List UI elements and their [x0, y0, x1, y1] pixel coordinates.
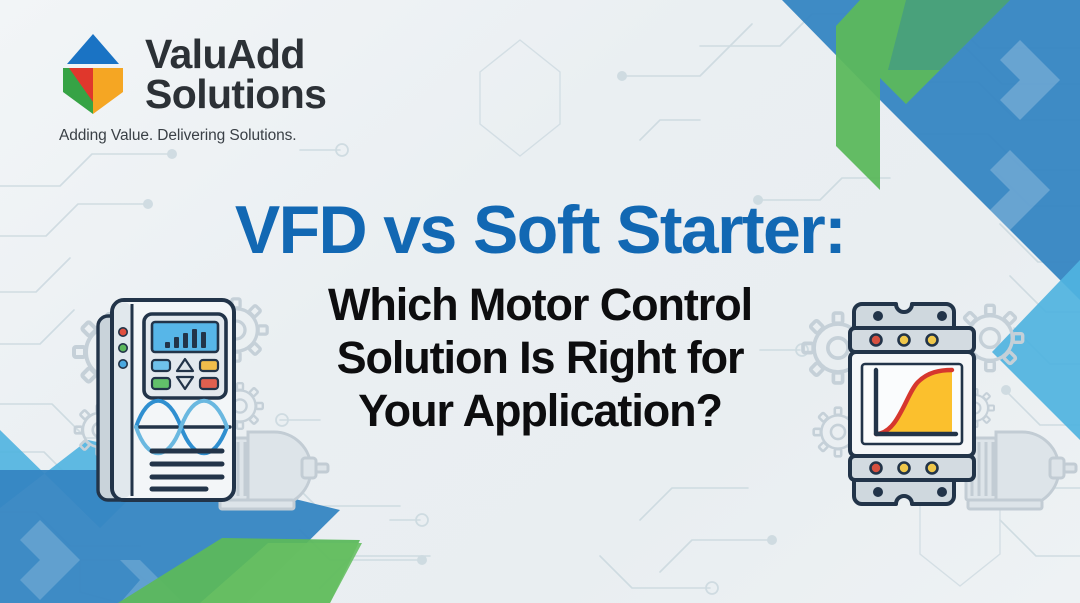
soft-starter-screw-bottom-left	[873, 487, 883, 497]
vfd-button-green	[152, 378, 170, 389]
soft-starter-illustration	[806, 288, 1022, 520]
logo-word-line2: Solutions	[145, 74, 326, 114]
accent-green-top-right	[836, 0, 1010, 190]
soft-starter-terminal-yellow-bottom-1	[899, 463, 910, 474]
soft-starter-terminal-yellow-top-2	[927, 335, 938, 346]
vfd-button-blue	[152, 360, 170, 371]
vfd-led-red	[119, 328, 127, 336]
valuadd-logo-mark	[55, 30, 131, 118]
accent-green-bottom-left-2	[200, 543, 362, 603]
soft-starter-screw-top-left	[873, 311, 883, 321]
logo-word-line1: ValuAdd	[145, 34, 326, 74]
logo-wedge-orange	[93, 68, 123, 114]
vfd-button-orange	[200, 360, 218, 371]
soft-starter-terminal-yellow-bottom-2	[927, 463, 938, 474]
vfd-led-blue	[119, 360, 127, 368]
accent-green-teal-overlap	[888, 0, 1010, 70]
logo-tagline: Adding Value. Delivering Solutions.	[59, 127, 296, 145]
headline-subtitle-line1: Which Motor Control	[280, 278, 800, 331]
soft-starter-terminal-yellow-top-1	[899, 335, 910, 346]
headline-subtitle-line3: Your Application?	[280, 384, 800, 437]
headline-title: VFD vs Soft Starter:	[0, 196, 1080, 264]
logo-wordmark: ValuAdd Solutions	[145, 34, 326, 114]
soft-starter-terminal-red-top	[871, 335, 882, 346]
logo-triangle-blue	[67, 34, 119, 64]
logo-row: ValuAdd Solutions	[55, 30, 326, 118]
vfd-button-red	[200, 378, 218, 389]
soft-starter-terminal-red-bottom	[871, 463, 882, 474]
banner-canvas: ValuAdd Solutions Adding Value. Deliveri…	[0, 0, 1080, 603]
soft-starter-top-terminal-strip	[850, 328, 974, 352]
headline-subtitle: Which Motor Control Solution Is Right fo…	[280, 278, 800, 437]
headline-subtitle-line2: Solution Is Right for	[280, 331, 800, 384]
vfd-drive-illustration	[86, 288, 286, 520]
accent-green-bottom-left	[118, 538, 360, 603]
soft-starter-screw-bottom-right	[937, 487, 947, 497]
soft-starter-screw-top-right	[937, 311, 947, 321]
vfd-led-green	[119, 344, 127, 352]
soft-starter-bottom-terminal-strip	[850, 456, 974, 480]
brand-logo[interactable]: ValuAdd Solutions Adding Value. Deliveri…	[55, 30, 326, 145]
